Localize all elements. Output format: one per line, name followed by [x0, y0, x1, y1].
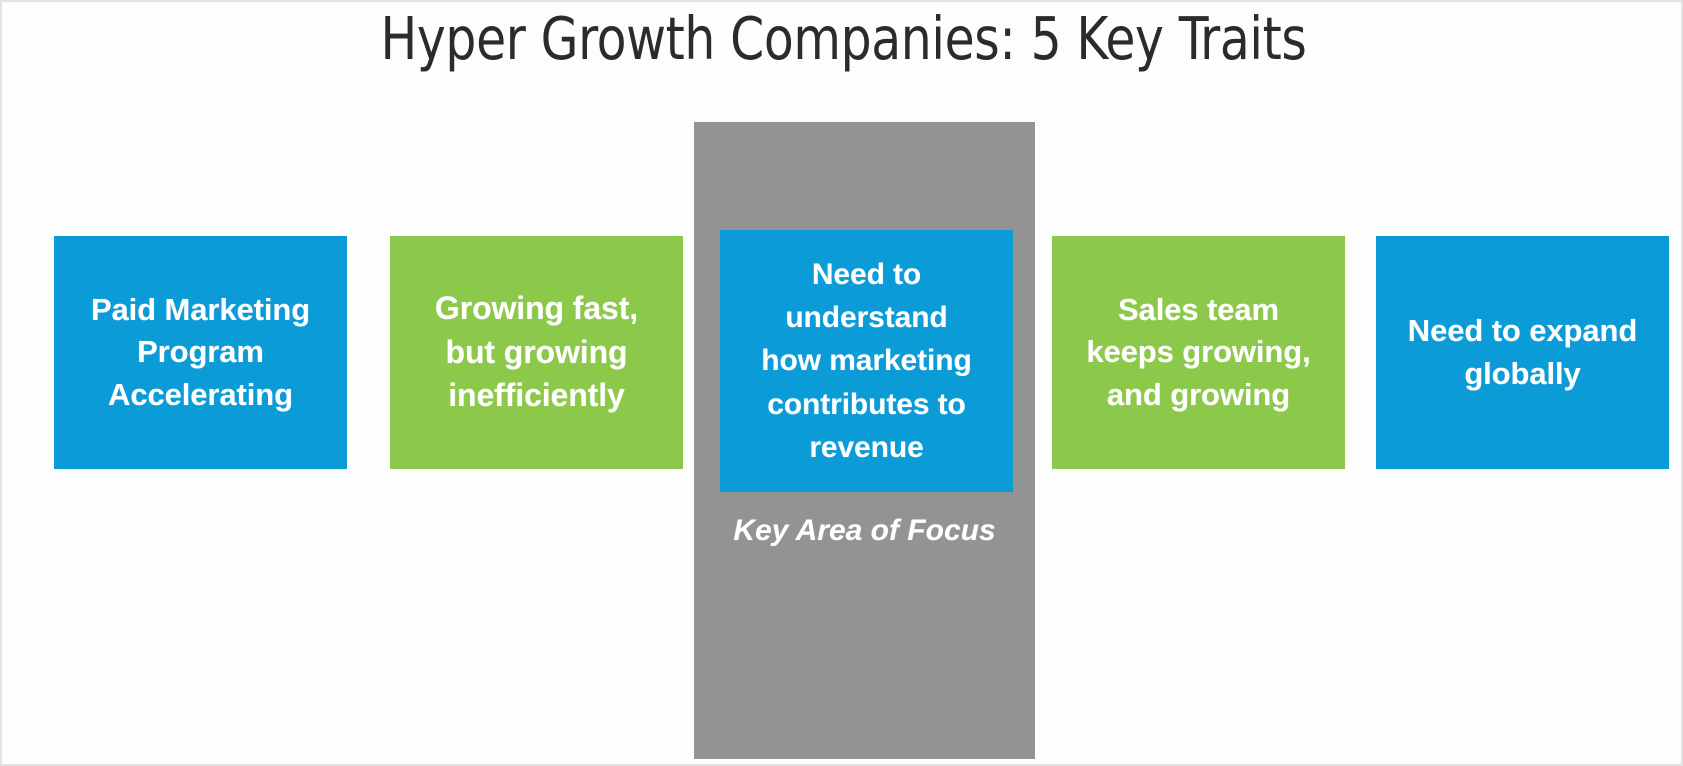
trait-card-growing-fast-but-inefficiently[interactable]: Growing fast, but growing inefficiently	[390, 236, 683, 469]
trait-card-label: Sales team keeps growing, and growing	[1086, 289, 1310, 415]
trait-card-label: Paid Marketing Program Accelerating	[91, 289, 310, 415]
trait-card-label: Growing fast, but growing inefficiently	[435, 287, 638, 418]
trait-card-label: Need to understand how marketing contrib…	[761, 253, 971, 469]
key-area-of-focus-caption: Key Area of Focus	[694, 510, 1035, 552]
trait-card-label: Need to expand globally	[1408, 310, 1637, 394]
trait-card-sales-team-keeps-growing[interactable]: Sales team keeps growing, and growing	[1052, 236, 1345, 469]
page-title: Hyper Growth Companies: 5 Key Traits	[69, 6, 1617, 72]
trait-card-need-to-expand-globally[interactable]: Need to expand globally	[1376, 236, 1669, 469]
trait-card-understand-marketing-contribution[interactable]: Need to understand how marketing contrib…	[720, 230, 1013, 492]
slide-canvas: Hyper Growth Companies: 5 Key Traits Pai…	[0, 0, 1683, 766]
trait-card-paid-marketing-program-accelerating[interactable]: Paid Marketing Program Accelerating	[54, 236, 347, 469]
